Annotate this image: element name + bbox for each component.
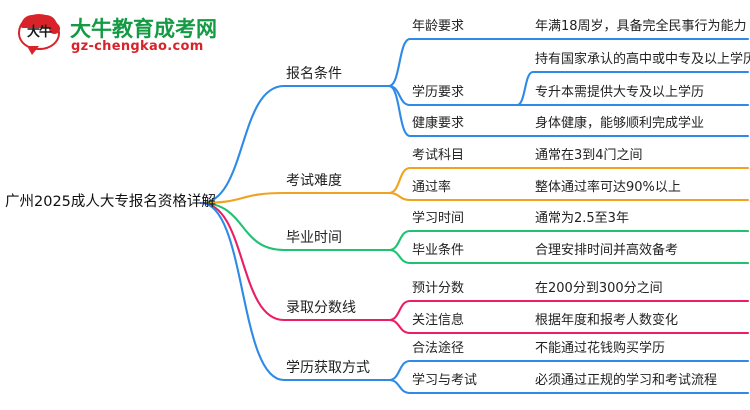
leaf-label-1-1-1[interactable]: 年满18周岁，具备完全民事行为能力 (535, 20, 747, 33)
subnode-label-5-1[interactable]: 合法途径 (412, 342, 464, 355)
leaf-label-3-2-1[interactable]: 合理安排时间并高效备考 (535, 244, 678, 257)
subnode-label-3-2[interactable]: 毕业条件 (412, 244, 464, 257)
leaf-label-4-1-1[interactable]: 在200分到300分之间 (535, 282, 663, 295)
leaf-label-5-1-1[interactable]: 不能通过花钱购买学历 (535, 342, 665, 355)
branch-label-4[interactable]: 录取分数线 (286, 301, 356, 315)
connector-path (389, 168, 517, 193)
subnode-label-2-1[interactable]: 考试科目 (412, 149, 464, 162)
branch-label-1[interactable]: 报名条件 (286, 67, 342, 81)
connector-path (201, 193, 389, 203)
connector-path (389, 193, 517, 200)
subnode-label-1-2[interactable]: 学历要求 (412, 86, 464, 99)
branch-label-5[interactable]: 学历获取方式 (286, 361, 370, 375)
leaf-label-3-1-1[interactable]: 通常为2.5至3年 (535, 212, 629, 225)
branch-label-2[interactable]: 考试难度 (286, 174, 342, 188)
subnode-label-4-1[interactable]: 预计分数 (412, 282, 464, 295)
subnode-label-1-3[interactable]: 健康要求 (412, 117, 464, 130)
leaf-label-1-2-1[interactable]: 持有国家承认的高中或中专及以上学历 (535, 53, 750, 66)
mindmap-canvas: 大牛 大牛教育成考网 gz-chengkao.com 广州2025成人大专报名资… (0, 0, 750, 410)
connector-path (389, 39, 517, 86)
subnode-label-2-2[interactable]: 通过率 (412, 181, 451, 194)
leaf-label-1-2-2[interactable]: 专升本需提供大专及以上学历 (535, 86, 704, 99)
leaf-label-5-2-1[interactable]: 必须通过正规的学习和考试流程 (535, 374, 717, 387)
leaf-label-4-2-1[interactable]: 根据年度和报考人数变化 (535, 314, 678, 327)
leaf-label-2-1-1[interactable]: 通常在3到4门之间 (535, 149, 643, 162)
subnode-label-4-2[interactable]: 关注信息 (412, 314, 464, 327)
subnode-label-3-1[interactable]: 学习时间 (412, 212, 464, 225)
leaf-label-1-3-1[interactable]: 身体健康，能够顺利完成学业 (535, 117, 704, 130)
root-node-label[interactable]: 广州2025成人大专报名资格详解 (5, 195, 216, 210)
subnode-label-1-1[interactable]: 年龄要求 (412, 20, 464, 33)
branch-label-3[interactable]: 毕业时间 (286, 231, 342, 245)
subnode-label-5-2[interactable]: 学习与考试 (412, 374, 477, 387)
leaf-label-2-2-1[interactable]: 整体通过率可达90%以上 (535, 181, 681, 194)
